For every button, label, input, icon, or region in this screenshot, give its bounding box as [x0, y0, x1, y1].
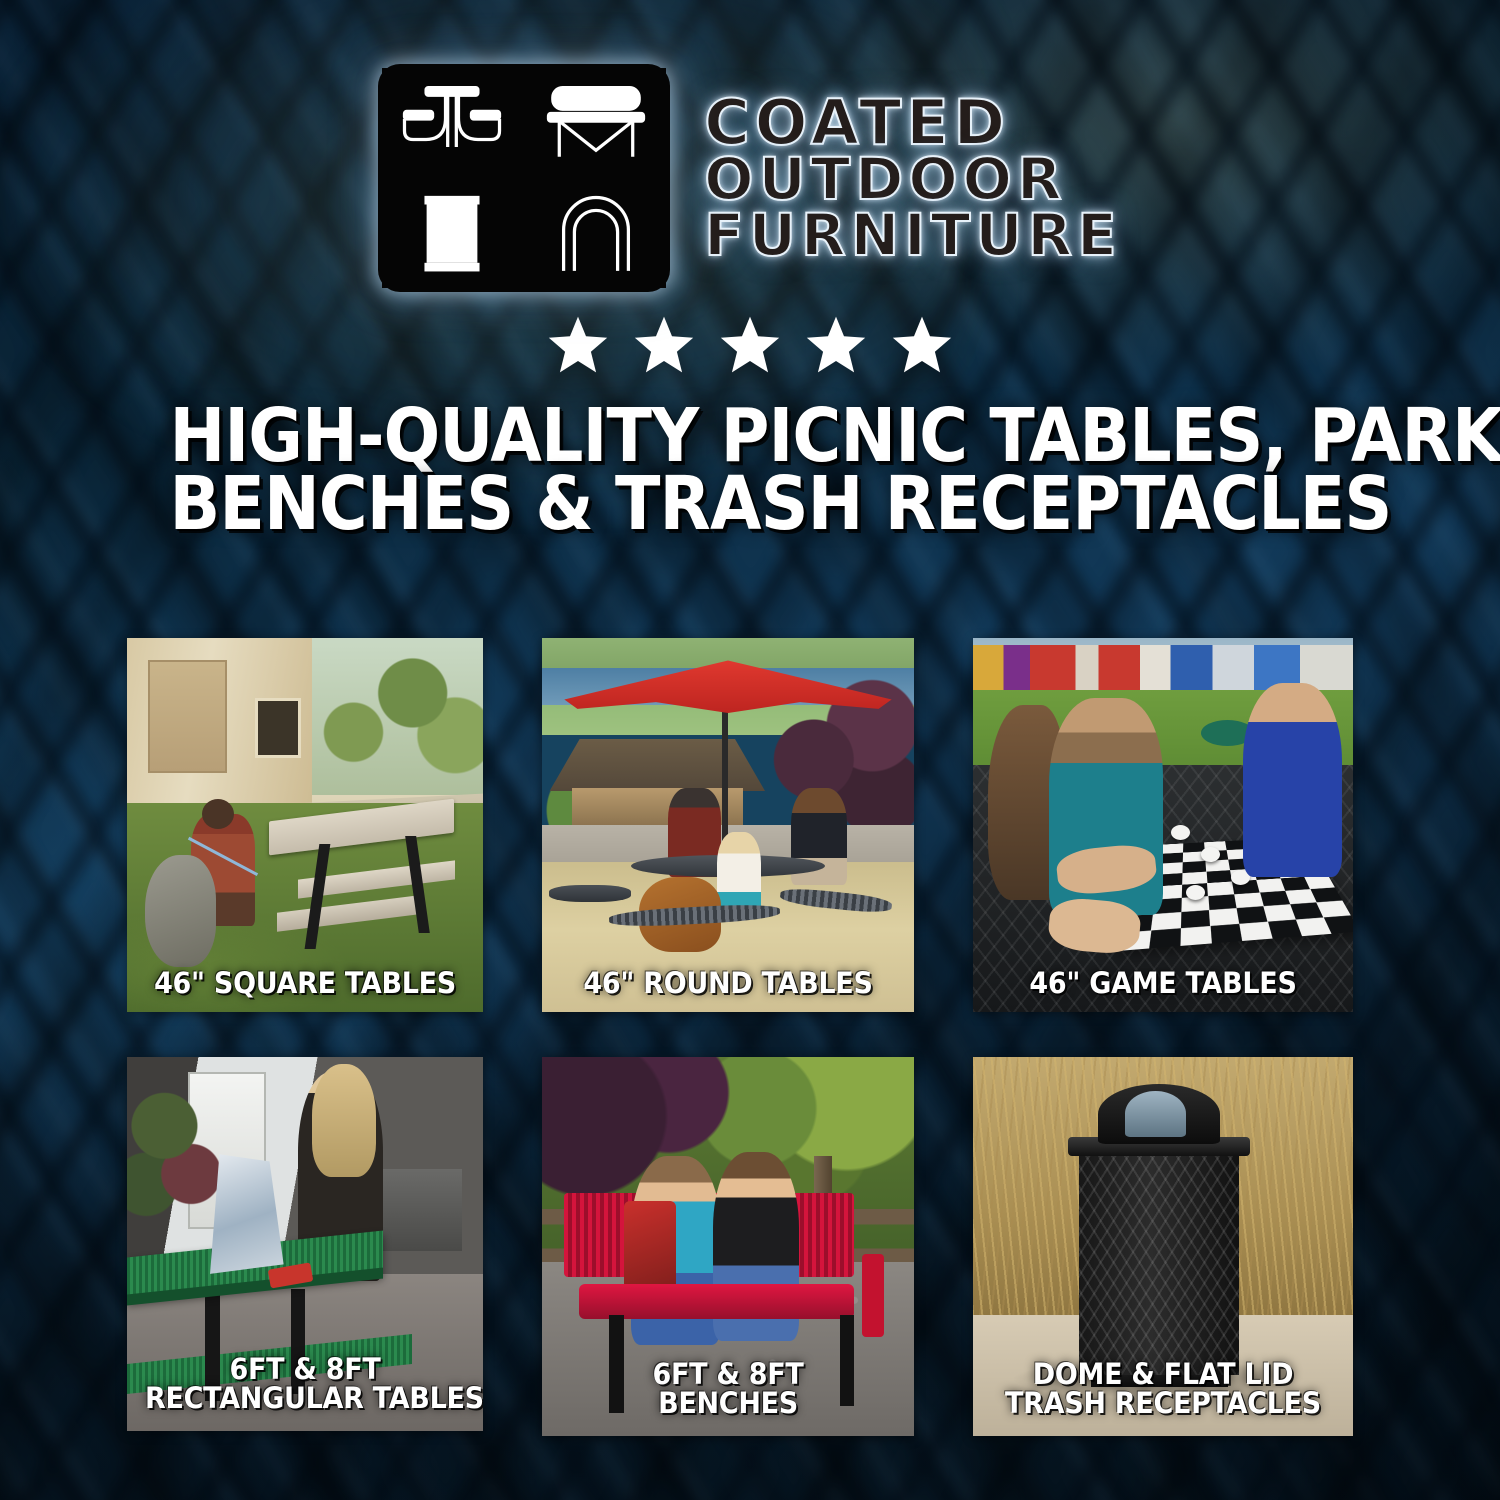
product-photo-trash-receptacles [973, 1057, 1353, 1436]
product-photo-benches [542, 1057, 914, 1436]
star-icon [890, 314, 954, 376]
headline-line-2: BENCHES & TRASH RECEPTACLES [170, 470, 1331, 538]
product-grid: 46" SQUARE TABLES [127, 638, 1373, 1436]
logo-word-coated: COATED [704, 93, 1121, 153]
star-icon [546, 314, 610, 376]
product-tile-rectangular-tables[interactable]: 6FT & 8FT RECTANGULAR TABLES [127, 1057, 483, 1431]
logo-mark [378, 64, 670, 292]
product-photo-game-tables [973, 638, 1353, 1012]
flat-lid-trash-icon [382, 180, 522, 288]
product-tile-trash-receptacles[interactable]: DOME & FLAT LID TRASH RECEPTACLES [973, 1057, 1353, 1436]
page-title: HIGH-QUALITY PICNIC TABLES, PARK BENCHES… [170, 402, 1331, 538]
picnic-table-icon [382, 68, 522, 176]
product-photo-round-tables [542, 638, 914, 1012]
product-tile-game-tables[interactable]: 46" GAME TABLES [973, 638, 1353, 1012]
brand-logo: COATED OUTDOOR FURNITURE [378, 64, 1121, 292]
star-icon [718, 314, 782, 376]
product-tile-round-tables[interactable]: 46" ROUND TABLES [542, 638, 914, 1012]
headline-line-1: HIGH-QUALITY PICNIC TABLES, PARK [170, 402, 1331, 470]
product-photo-rectangular-tables [127, 1057, 483, 1431]
header: COATED OUTDOOR FURNITURE HIGH-QUALITY PI… [0, 0, 1500, 538]
star-icon [804, 314, 868, 376]
star-icon [632, 314, 696, 376]
product-photo-square-tables [127, 638, 483, 1012]
logo-word-furniture: FURNITURE [704, 208, 1121, 264]
star-rating [546, 314, 954, 376]
product-tile-square-tables[interactable]: 46" SQUARE TABLES [127, 638, 483, 1012]
dome-lid-trash-icon [526, 180, 666, 288]
park-bench-icon [526, 68, 666, 176]
promo-graphic: COATED OUTDOOR FURNITURE HIGH-QUALITY PI… [0, 0, 1500, 1500]
logo-wordmark: COATED OUTDOOR FURNITURE [704, 93, 1121, 264]
logo-word-outdoor: OUTDOOR [704, 152, 1121, 208]
product-tile-benches[interactable]: 6FT & 8FT BENCHES [542, 1057, 914, 1436]
